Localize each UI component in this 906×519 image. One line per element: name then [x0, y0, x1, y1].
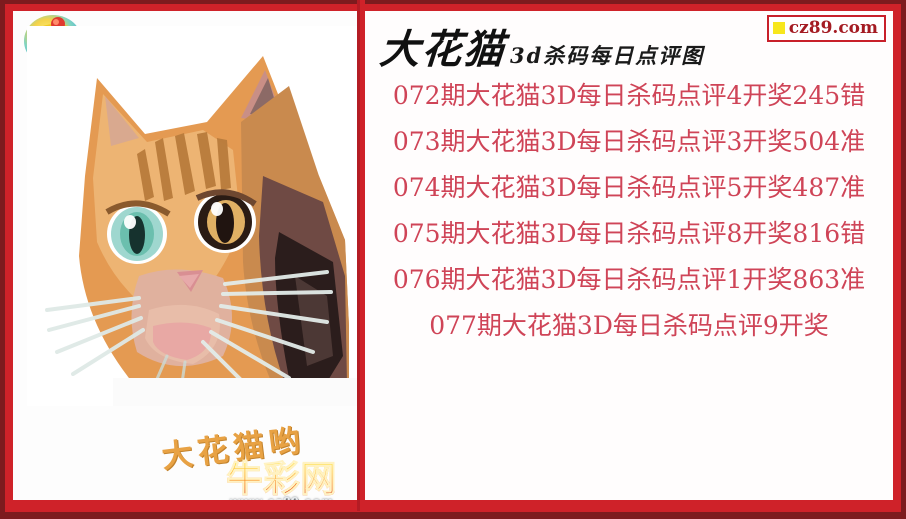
list-item: 077期大花猫3D每日杀码点评9开奖	[365, 303, 893, 349]
yellow-square-icon	[773, 22, 785, 34]
poster-canvas: 3 D	[13, 11, 893, 500]
badge-site-text: cz89.com	[789, 18, 878, 38]
niucai-url-text: www.cz89.com	[198, 494, 357, 500]
title-sub-text: 3d杀码每日点评图	[510, 40, 704, 70]
title-main-text: 大花猫	[378, 17, 508, 75]
right-content-panel: 大花猫 3d杀码每日点评图 cz89.com 072期大花猫3D每日杀码点评4开…	[365, 11, 893, 500]
list-item: 072期大花猫3D每日杀码点评4开奖245错	[365, 73, 893, 119]
list-item: 075期大花猫3D每日杀码点评8开奖816错	[365, 211, 893, 257]
left-image-panel: 3 D	[13, 11, 357, 500]
niucai-watermark: 牛彩网 www.cz89.com	[198, 463, 357, 500]
cat-photo	[27, 26, 357, 406]
list-item: 076期大花猫3D每日杀码点评1开奖863准	[365, 257, 893, 303]
panel-divider	[357, 0, 365, 511]
list-item: 074期大花猫3D每日杀码点评5开奖487准	[365, 165, 893, 211]
niucai-brand-text: 牛彩网	[198, 463, 357, 497]
list-item: 073期大花猫3D每日杀码点评3开奖504准	[365, 119, 893, 165]
cz89-watermark-badge: cz89.com	[767, 15, 886, 42]
poster-root: 3 D	[0, 0, 906, 519]
page-title: 大花猫 3d杀码每日点评图	[380, 17, 704, 75]
entry-list: 072期大花猫3D每日杀码点评4开奖245错 073期大花猫3D每日杀码点评3开…	[365, 73, 893, 349]
